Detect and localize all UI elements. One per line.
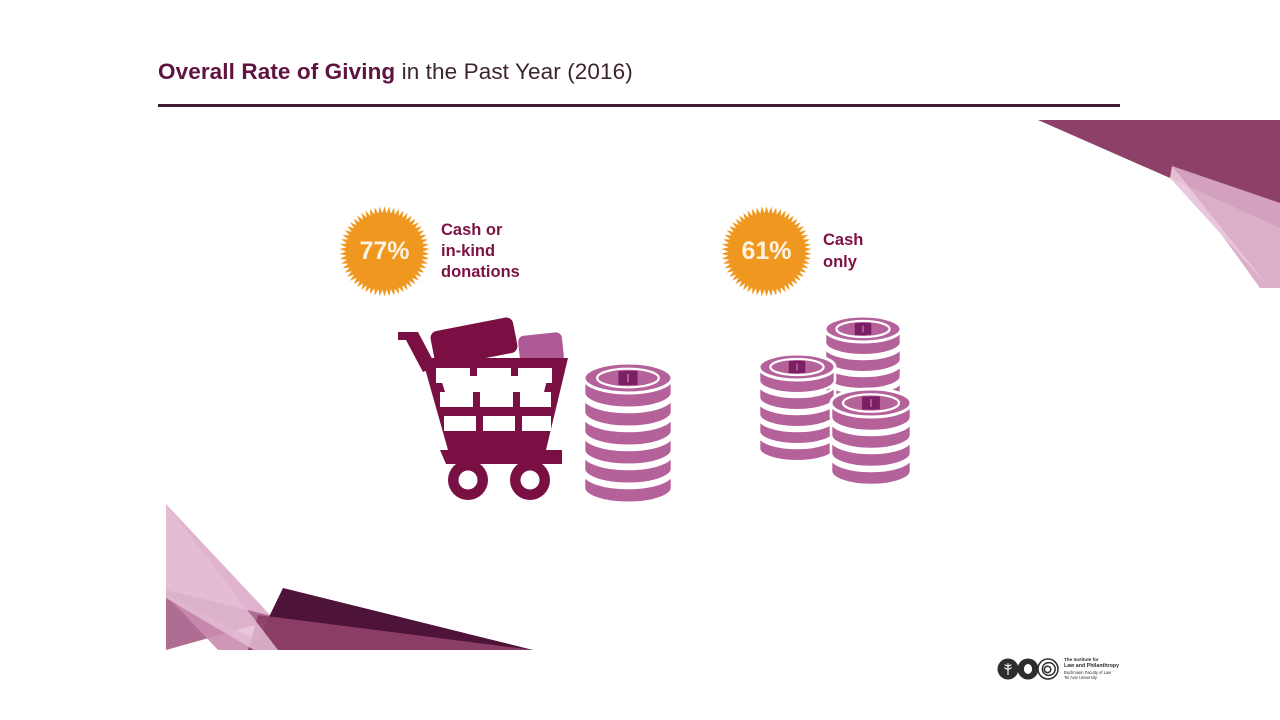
- shopping-cart-with-coins-icon: [396, 310, 676, 505]
- title-strong: Overall Rate of Giving: [158, 59, 395, 84]
- logo-marks: [997, 658, 1059, 680]
- stat-cash-only: 61% Cash only: [720, 205, 863, 298]
- olive-branch-circle-icon: [998, 658, 1019, 679]
- slide-canvas: Overall Rate of Giving in the Past Year …: [0, 0, 1280, 720]
- stat-label-cash-only: Cash only: [823, 230, 863, 272]
- percent-value-cash-only: 61%: [720, 205, 813, 298]
- percent-value-cash-inkind: 77%: [338, 205, 431, 298]
- stat-cash-inkind: 77% Cash or in-kind donations: [338, 205, 520, 298]
- decoration-top-right: [1020, 108, 1280, 288]
- percent-badge-cash-only: 61%: [720, 205, 813, 298]
- title-light: in the Past Year (2016): [395, 59, 633, 84]
- cart-grid-icon: [436, 368, 552, 431]
- percent-badge-cash-inkind: 77%: [338, 205, 431, 298]
- cart-wheels-icon: [448, 460, 550, 500]
- decoration-bottom-left: [158, 490, 558, 650]
- coin-stack-left: [759, 354, 835, 461]
- ring-icon: [1018, 658, 1039, 679]
- coin-stack-icon: [584, 363, 672, 503]
- logo-line-2: Law and Philanthropy: [1064, 663, 1119, 670]
- coin-stack-front: [831, 389, 911, 485]
- title-divider: [158, 104, 1120, 107]
- page-title: Overall Rate of Giving in the Past Year …: [158, 58, 1120, 85]
- coin-stacks-icon: [745, 305, 935, 505]
- stat-label-cash-inkind: Cash or in-kind donations: [441, 220, 520, 283]
- spiral-ring-icon: [1038, 659, 1058, 679]
- logo-line-4: Tel Aviv University: [1064, 675, 1119, 680]
- institute-logo: The Institute for Law and Philanthropy B…: [997, 657, 1119, 681]
- cart-axle-icon: [440, 450, 562, 464]
